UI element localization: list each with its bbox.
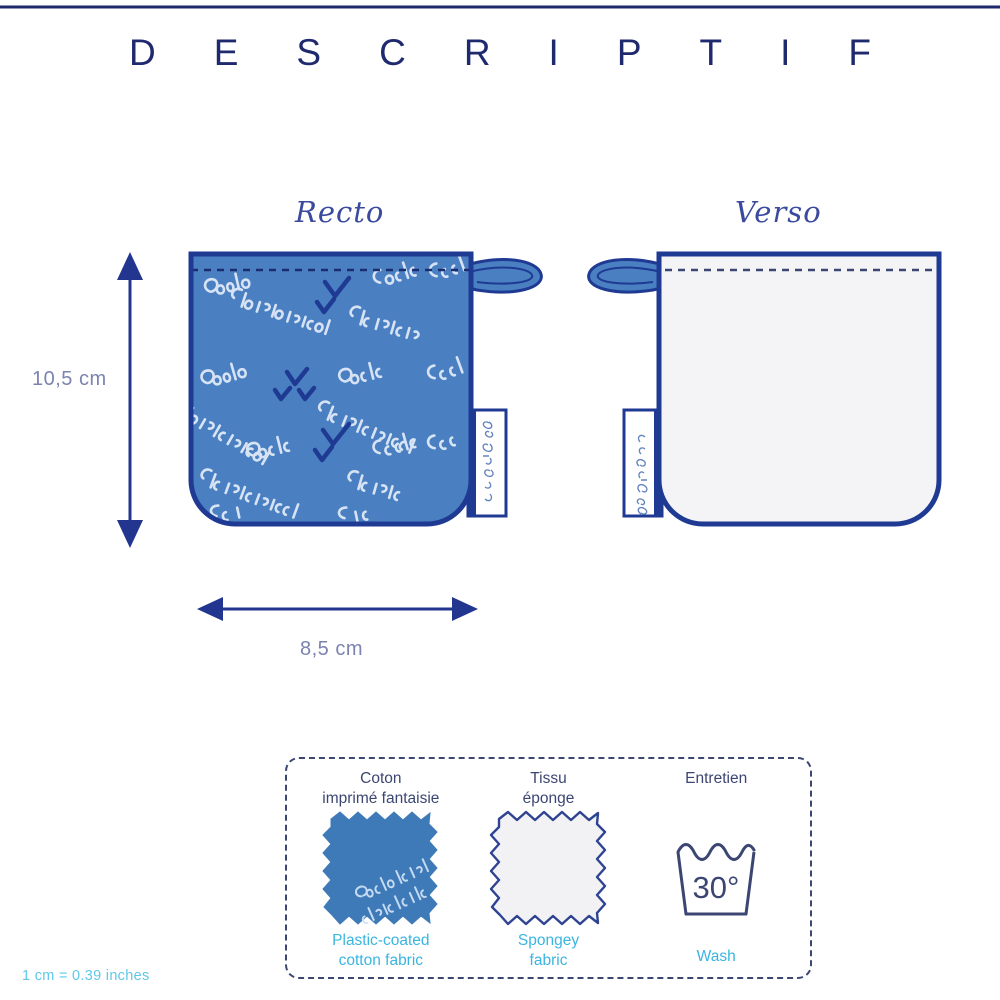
- legend-label-en: Spongey fabric: [518, 931, 579, 975]
- wash-30-degrees-icon: 30°: [664, 830, 768, 926]
- fabric-label-tag-icon: [624, 410, 662, 516]
- bag-recto-illustration: [185, 248, 565, 568]
- hanging-loop-icon: [463, 260, 541, 292]
- hanging-loop-icon: [589, 260, 667, 292]
- legend-items: Coton imprimé fantaisie: [287, 759, 810, 977]
- legend-item-cotton: Coton imprimé fantaisie: [297, 767, 465, 971]
- unit-conversion-note: 1 cm = 0.39 inches: [22, 968, 150, 984]
- legend-label-en: Wash: [697, 947, 736, 971]
- width-dimension-arrow: [195, 592, 480, 626]
- descriptif-sheet: DESCRIPTIF Recto Verso 10,5 cm 8,5 cm: [0, 0, 1000, 1000]
- legend-title-fr: Coton imprimé fantaisie: [322, 767, 439, 809]
- height-dimension-label: 10,5 cm: [32, 368, 107, 391]
- legend-figure: 30°: [632, 809, 800, 947]
- fabric-label-tag-icon: [468, 410, 506, 516]
- ruler-header: DESCRIPTIF: [0, 0, 1000, 96]
- verso-label: Verso: [735, 195, 822, 229]
- height-dimension-arrow: [110, 250, 150, 550]
- page-title: DESCRIPTIF: [0, 32, 1000, 74]
- white-fabric-swatch-icon: [487, 809, 611, 931]
- legend-title-fr: Entretien: [685, 767, 747, 809]
- legend-figure: [297, 809, 465, 931]
- legend-item-care: Entretien 30° Wash: [632, 767, 800, 971]
- legend-label-en: Plastic-coated cotton fabric: [332, 931, 429, 975]
- legend-title-fr: Tissu éponge: [523, 767, 575, 809]
- wash-temperature-label: 30°: [693, 870, 740, 905]
- width-dimension-label: 8,5 cm: [300, 638, 363, 661]
- legend-box: Coton imprimé fantaisie: [285, 757, 812, 979]
- bag-verso-illustration: [565, 248, 945, 568]
- blue-fabric-swatch-icon: [319, 809, 443, 931]
- recto-label: Recto: [295, 195, 384, 229]
- legend-figure: [465, 809, 633, 931]
- legend-item-sponge: Tissu éponge Spongey fabric: [465, 767, 633, 971]
